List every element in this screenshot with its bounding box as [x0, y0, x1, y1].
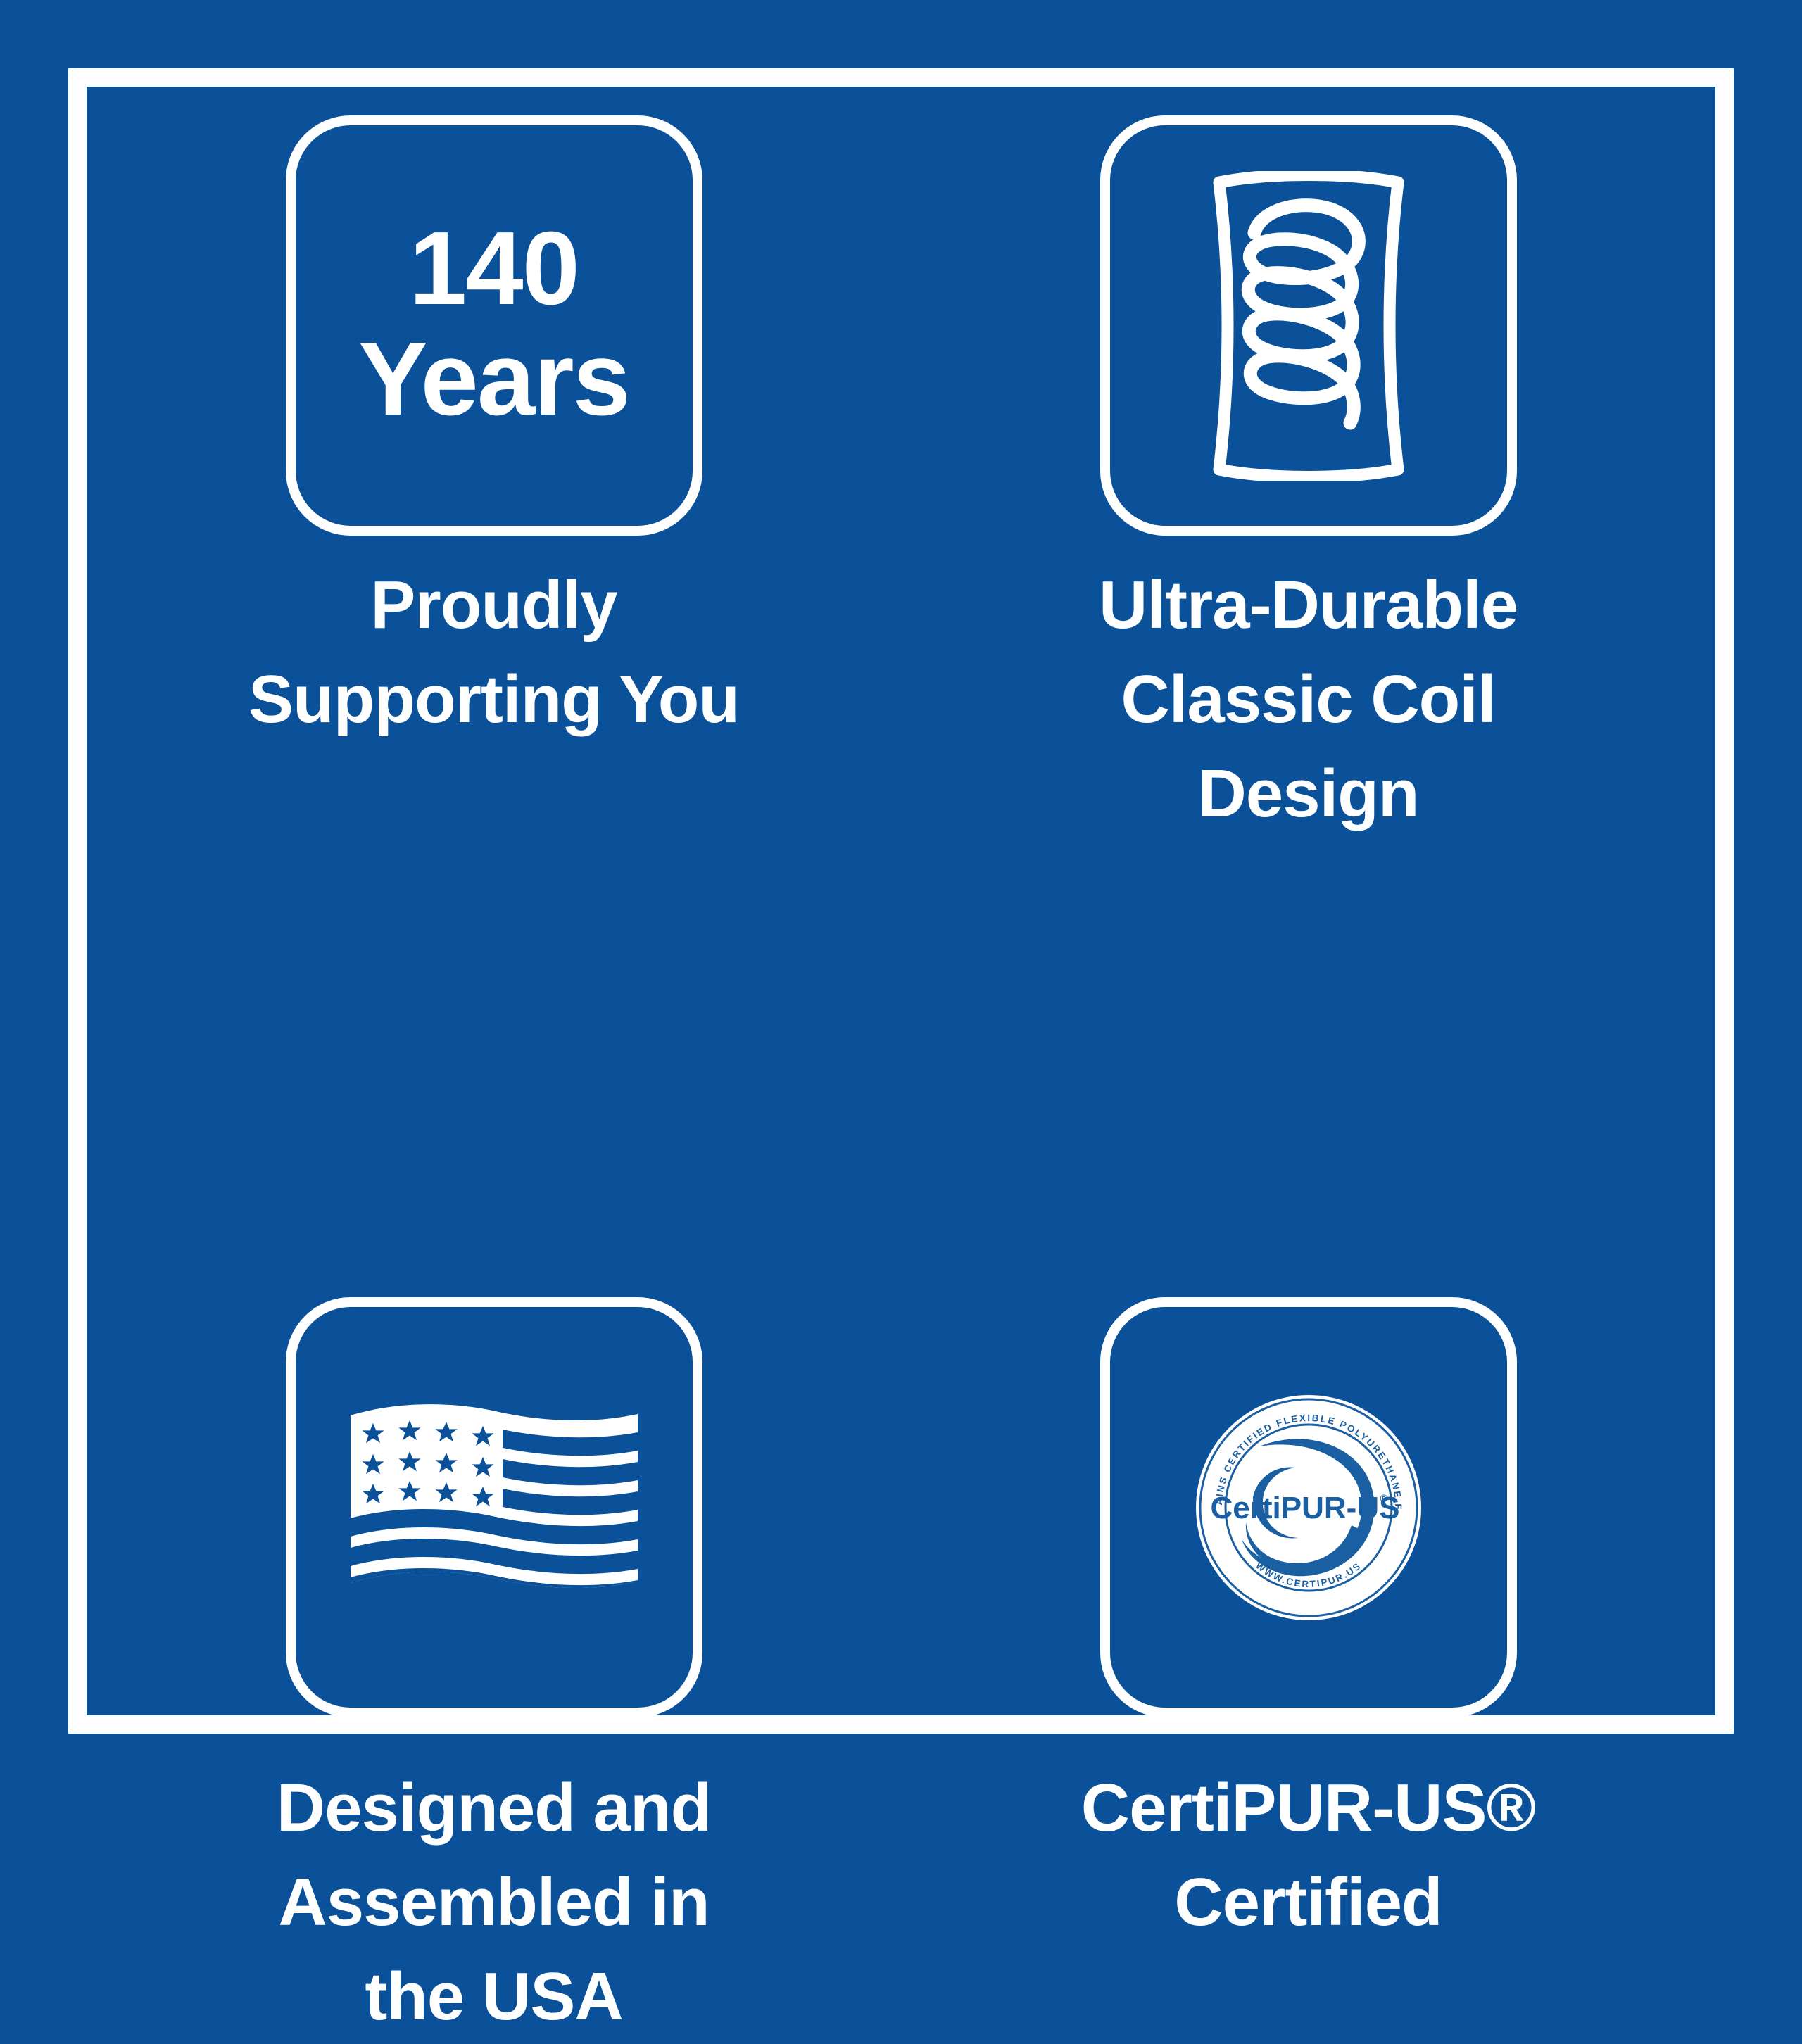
badge-card-coil: Ultra-Durable Classic Coil Design [901, 87, 1715, 841]
badge-caption-usa: Designed and Assembled in the USA [87, 1761, 901, 2044]
badge-card-years: 140 Years Proudly Supporting You [87, 87, 901, 841]
years-icon-frame: 140 Years [286, 115, 702, 536]
coil-icon-frame [1100, 115, 1517, 536]
badge-caption-certipur: CertiPUR-US® Certified [901, 1761, 1715, 1950]
years-text-icon: 140 Years [358, 213, 629, 439]
usa-flag-icon [346, 1400, 642, 1615]
badge-panel: 140 Years Proudly Supporting You Ultra-D… [68, 68, 1734, 1734]
mattress-coil-icon [1192, 171, 1425, 481]
badge-caption-coil: Ultra-Durable Classic Coil Design [901, 558, 1715, 841]
usa-flag-icon-frame [286, 1297, 702, 1717]
badge-grid: 140 Years Proudly Supporting You Ultra-D… [87, 87, 1715, 1715]
certipur-registered-mark: ® [1380, 1493, 1387, 1505]
badge-caption-years: Proudly Supporting You [87, 558, 901, 747]
badge-card-usa: Designed and Assembled in the USA [87, 841, 901, 2044]
badge-card-certipur: CONTAINS CERTIFIED FLEXIBLE POLYURETHANE… [901, 841, 1715, 2044]
certipur-icon-frame: CONTAINS CERTIFIED FLEXIBLE POLYURETHANE… [1100, 1297, 1517, 1717]
certipur-wordmark: CertiPUR-US [1210, 1491, 1399, 1525]
certipur-us-seal-icon: CONTAINS CERTIFIED FLEXIBLE POLYURETHANE… [1192, 1392, 1425, 1624]
